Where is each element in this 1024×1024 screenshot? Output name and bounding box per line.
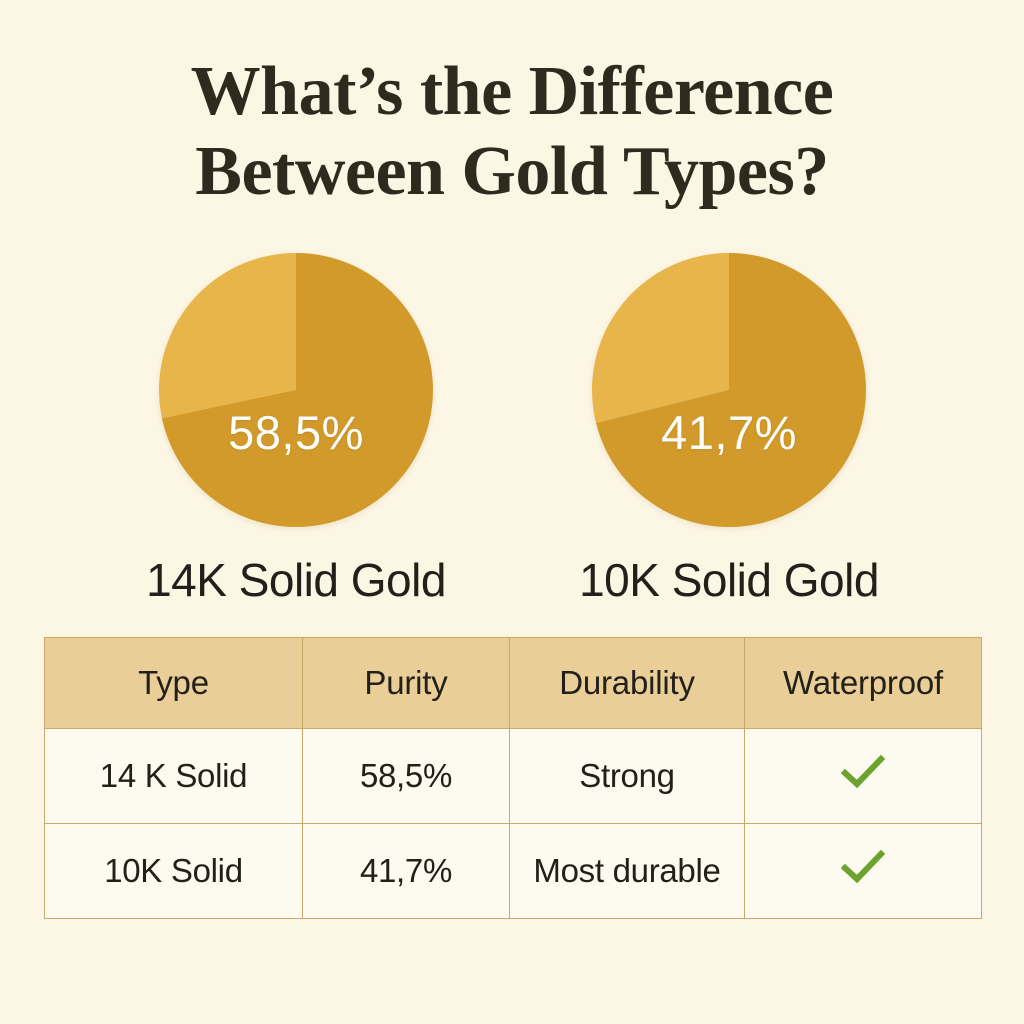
column-header-waterproof: Waterproof bbox=[745, 638, 982, 729]
cell-waterproof bbox=[745, 824, 982, 919]
title-line-2: Between Gold Types? bbox=[0, 132, 1024, 212]
table-row: 14 K Solid 58,5% Strong bbox=[45, 729, 982, 824]
cell-type: 10K Solid bbox=[45, 824, 303, 919]
table-header-row: Type Purity Durability Waterproof bbox=[45, 638, 982, 729]
comparison-table-wrapper: Type Purity Durability Waterproof 14 K S… bbox=[44, 637, 981, 919]
title-line-1: What’s the Difference bbox=[0, 52, 1024, 132]
pie-chart-10k: 41,7% bbox=[592, 253, 866, 527]
pie-caption-10k: 10K Solid Gold bbox=[519, 553, 939, 607]
pie-chart-14k: 58,5% bbox=[159, 253, 433, 527]
pie-value-label-14k: 58,5% bbox=[159, 405, 433, 460]
pie-caption-14k: 14K Solid Gold bbox=[86, 553, 506, 607]
column-header-purity: Purity bbox=[303, 638, 510, 729]
pie-chart-group: 58,5% 14K Solid Gold 41,7% 10K Solid Gol… bbox=[0, 253, 1024, 603]
cell-purity: 58,5% bbox=[303, 729, 510, 824]
column-header-type: Type bbox=[45, 638, 303, 729]
checkmark-icon bbox=[841, 850, 885, 884]
cell-type: 14 K Solid bbox=[45, 729, 303, 824]
table-row: 10K Solid 41,7% Most durable bbox=[45, 824, 982, 919]
column-header-durability: Durability bbox=[510, 638, 745, 729]
cell-purity: 41,7% bbox=[303, 824, 510, 919]
pie-value-label-10k: 41,7% bbox=[592, 405, 866, 460]
pie-unit-10k: 41,7% 10K Solid Gold bbox=[519, 253, 939, 607]
page-title: What’s the Difference Between Gold Types… bbox=[0, 52, 1024, 212]
cell-waterproof bbox=[745, 729, 982, 824]
comparison-table: Type Purity Durability Waterproof 14 K S… bbox=[44, 637, 982, 919]
cell-durability: Most durable bbox=[510, 824, 745, 919]
infographic-canvas: What’s the Difference Between Gold Types… bbox=[0, 0, 1024, 1024]
cell-durability: Strong bbox=[510, 729, 745, 824]
checkmark-icon bbox=[841, 755, 885, 789]
pie-unit-14k: 58,5% 14K Solid Gold bbox=[86, 253, 506, 607]
